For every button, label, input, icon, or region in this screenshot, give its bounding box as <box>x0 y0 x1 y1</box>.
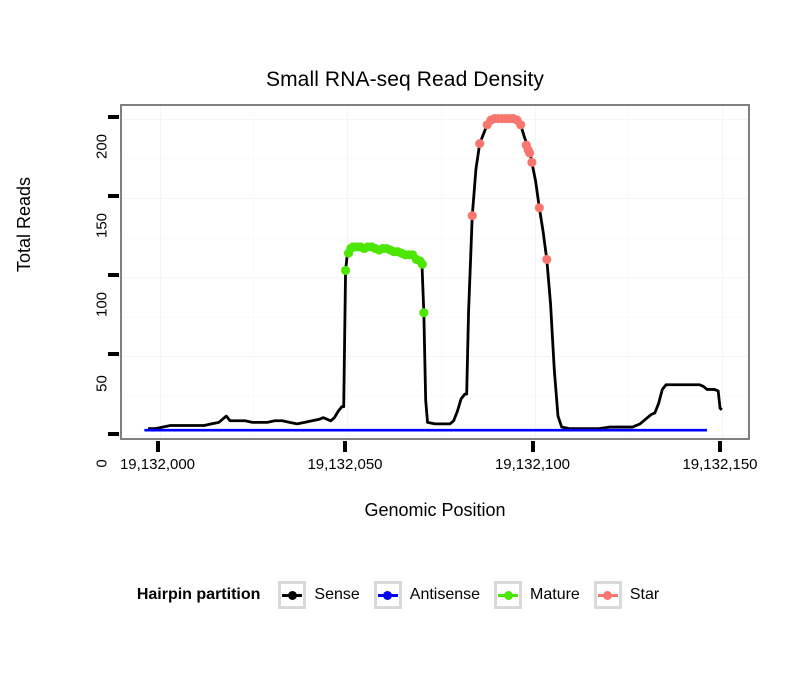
legend-item-star[interactable]: Star <box>594 581 659 609</box>
x-tick-label: 19,132,150 <box>650 456 790 473</box>
data-point-star <box>542 255 551 264</box>
line-dot-key-icon <box>494 581 522 609</box>
legend-label: Star <box>630 586 659 604</box>
legend-key-dot <box>504 591 513 600</box>
y-axis-title: Total Reads <box>14 177 35 272</box>
legend-item-mature[interactable]: Mature <box>494 581 580 609</box>
y-tick-label: 100 <box>94 275 111 335</box>
plot-area <box>122 106 748 438</box>
data-point-mature <box>418 260 427 269</box>
legend-label: Antisense <box>410 586 480 604</box>
x-tick-label: 19,132,050 <box>275 456 415 473</box>
data-point-star <box>475 139 484 148</box>
chart-figure: Small RNA-seq Read Density 050100150200 … <box>0 0 810 690</box>
x-tick-mark <box>718 441 722 452</box>
series-mature <box>341 242 428 317</box>
x-tick-mark <box>343 441 347 452</box>
x-tick-label: 19,132,100 <box>463 456 603 473</box>
data-point-star <box>535 203 544 212</box>
data-point-star <box>468 211 477 220</box>
series-sense <box>148 119 722 429</box>
series-layer <box>122 106 748 438</box>
data-point-star <box>527 158 536 167</box>
x-tick-mark <box>531 441 535 452</box>
legend-key-dot <box>383 591 392 600</box>
chart-title: Small RNA-seq Read Density <box>0 68 810 92</box>
data-point-star <box>525 148 534 157</box>
y-tick-label: 150 <box>94 195 111 255</box>
series-star <box>468 114 552 264</box>
plot-panel <box>120 104 750 440</box>
line-dot-key-icon <box>278 581 306 609</box>
legend-label: Mature <box>530 586 580 604</box>
x-tick-mark <box>156 441 160 452</box>
data-point-star <box>516 120 525 129</box>
legend-label: Sense <box>314 586 359 604</box>
data-point-mature <box>419 308 428 317</box>
line-dot-key-icon <box>594 581 622 609</box>
legend: Hairpin partition SenseAntisenseMatureSt… <box>0 581 810 609</box>
y-tick-label: 50 <box>94 354 111 414</box>
legend-title: Hairpin partition <box>137 586 261 604</box>
legend-item-antisense[interactable]: Antisense <box>374 581 480 609</box>
line-dot-key-icon <box>374 581 402 609</box>
x-axis-title: Genomic Position <box>120 500 750 521</box>
series-line-sense <box>148 119 722 429</box>
legend-items: SenseAntisenseMatureStar <box>278 581 673 609</box>
y-tick-label: 200 <box>94 116 111 176</box>
legend-key-dot <box>603 591 612 600</box>
legend-key-dot <box>288 591 297 600</box>
data-point-mature <box>341 266 350 275</box>
legend-item-sense[interactable]: Sense <box>278 581 359 609</box>
x-tick-label: 19,132,000 <box>88 456 228 473</box>
